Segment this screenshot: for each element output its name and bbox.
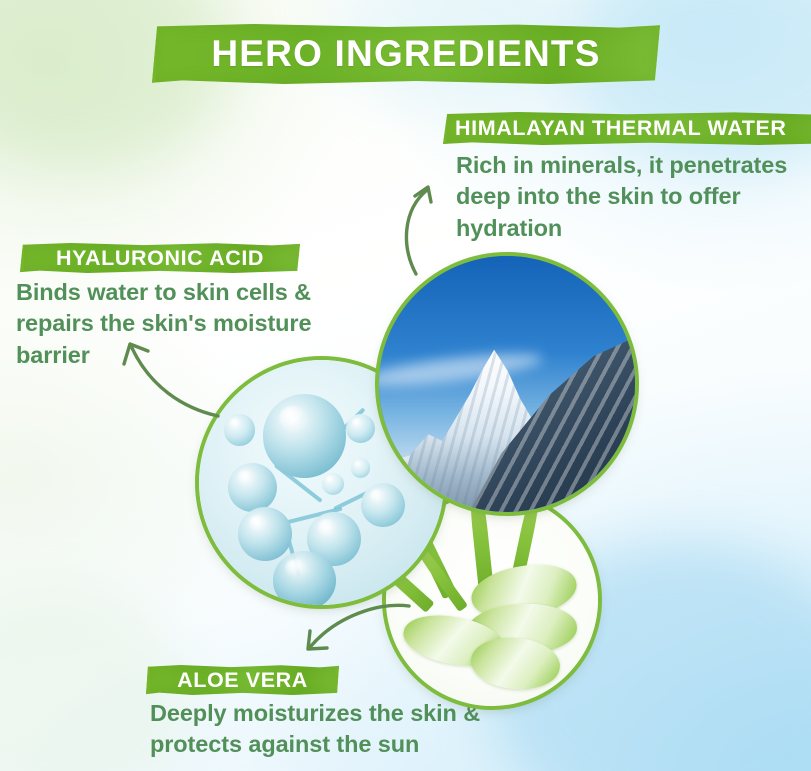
label-aloe-vera: ALOE VERA — [146, 665, 339, 695]
label-text-aloe: ALOE VERA — [177, 668, 308, 693]
description-hyaluronic-acid: Binds water to skin cells & repairs the … — [16, 277, 386, 371]
label-himalayan-thermal-water: HIMALAYAN THERMAL WATER — [443, 112, 811, 145]
label-text-himalayan: HIMALAYAN THERMAL WATER — [455, 116, 787, 141]
page-title-banner: HERO INGREDIENTS — [152, 24, 660, 84]
infographic-canvas: HERO INGREDIENTS — [0, 0, 811, 771]
image-circle-himalayan-thermal-water — [379, 256, 635, 512]
label-text-hyaluronic: HYALURONIC ACID — [56, 246, 264, 271]
description-aloe-vera: Deeply moisturizes the skin & protects a… — [150, 698, 490, 761]
description-himalayan-thermal-water: Rich in minerals, it penetrates deep int… — [456, 150, 806, 244]
page-title: HERO INGREDIENTS — [211, 33, 600, 75]
label-hyaluronic-acid: HYALURONIC ACID — [20, 243, 300, 273]
